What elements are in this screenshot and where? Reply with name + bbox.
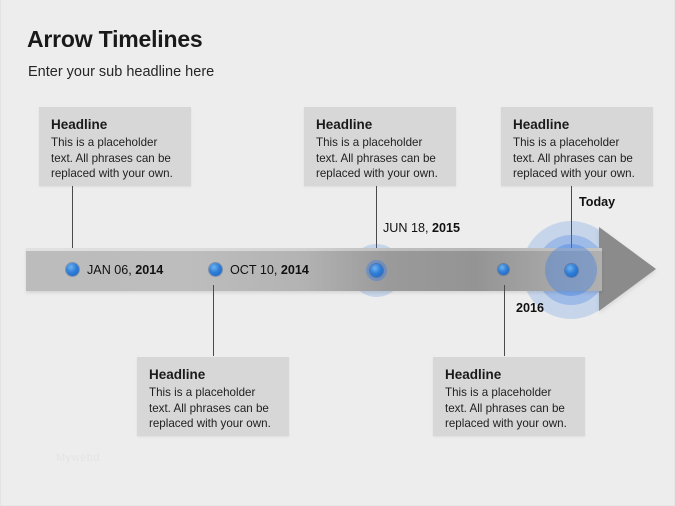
callout-bottom-1[interactable]: Headline This is a placeholder text. All… (137, 357, 289, 436)
callout-bottom-2[interactable]: Headline This is a placeholder text. All… (433, 357, 585, 436)
timeline-arrowhead (599, 227, 656, 311)
date-year: 2015 (432, 221, 460, 235)
date-year: 2014 (281, 263, 309, 277)
date-label-jun-2015: JUN 18, 2015 (383, 221, 460, 235)
callout-body: This is a placeholder text. All phrases … (51, 135, 179, 182)
marker-dot-today[interactable] (565, 264, 578, 277)
callout-headline: Headline (445, 366, 573, 383)
connector-line-top-1 (72, 186, 73, 256)
marker-dot-jan-2014[interactable] (66, 263, 79, 276)
date-label-oct-2014: OCT 10, 2014 (230, 263, 309, 277)
connector-line-bottom-1 (213, 285, 214, 356)
callout-headline: Headline (51, 116, 179, 133)
date-main: JAN 06, (87, 263, 135, 277)
callout-top-2[interactable]: Headline This is a placeholder text. All… (304, 107, 456, 186)
date-main: OCT 10, (230, 263, 281, 277)
callout-headline: Headline (316, 116, 444, 133)
date-main: JUN 18, (383, 221, 432, 235)
date-year: 2014 (135, 263, 163, 277)
page-title: Arrow Timelines (27, 26, 203, 53)
callout-body: This is a placeholder text. All phrases … (445, 385, 573, 432)
callout-headline: Headline (513, 116, 641, 133)
callout-headline: Headline (149, 366, 277, 383)
connector-line-bottom-2 (504, 285, 505, 356)
page-subtitle: Enter your sub headline here (28, 64, 214, 80)
label-2016: 2016 (516, 301, 544, 315)
callout-top-3[interactable]: Headline This is a placeholder text. All… (501, 107, 653, 186)
callout-body: This is a placeholder text. All phrases … (316, 135, 444, 182)
marker-dot-2016[interactable] (498, 264, 509, 275)
slide-canvas: Arrow Timelines Enter your sub headline … (0, 0, 675, 506)
callout-top-1[interactable]: Headline This is a placeholder text. All… (39, 107, 191, 186)
callout-body: This is a placeholder text. All phrases … (513, 135, 641, 182)
callout-body: This is a placeholder text. All phrases … (149, 385, 277, 432)
label-today: Today (579, 195, 615, 209)
watermark: Mywebd (56, 452, 100, 464)
date-label-jan-2014: JAN 06, 2014 (87, 263, 163, 277)
marker-dot-jun-2015[interactable] (370, 264, 383, 277)
marker-dot-oct-2014[interactable] (209, 263, 222, 276)
